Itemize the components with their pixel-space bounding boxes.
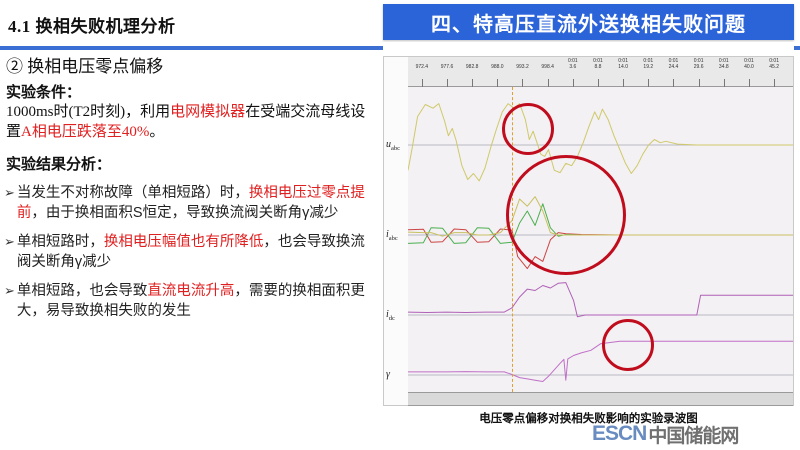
condition-highlight-1: 电网模拟器 [170, 104, 245, 120]
axis-tick-mark [497, 79, 498, 87]
section-banner: 四、特高压直流外送换相失败问题 [383, 4, 794, 40]
axis-tick-mark [573, 79, 574, 87]
bullet-seg-1: 单相短路，也会导致 [17, 283, 148, 299]
bullet-highlight: 换相电压幅值也有所降低 [104, 234, 264, 250]
time-axis-strip: 972.4 977.6 982.8 988.0 993.2 998.40:013… [408, 57, 793, 87]
condition-seg-1: 1000ms时(T2时刻)，利用 [6, 104, 170, 120]
signal-label-column: uabciabcidcγ [384, 87, 408, 392]
slide-header: 4.1 换相失败机理分析 四、特高压直流外送换相失败问题 [0, 0, 800, 48]
signal-label-sub: dc [389, 315, 395, 322]
waveform-trace-i-dc [408, 283, 793, 317]
list-item: ➢ 当发生不对称故障（单相短路）时，换相电压过零点提前，由于换相面积S恒定，导致… [4, 183, 376, 223]
list-item: ➢ 单相短路，也会导致直流电流升高，需要的换相面积更大，易导致换相失败的发生 [4, 281, 376, 321]
bullet-seg-2: ，由于换相面积S恒定，导致换流阀关断角γ减少 [31, 205, 338, 221]
condition-seg-4: 。 [149, 124, 164, 140]
axis-tick-bottom: 45.2 [754, 65, 794, 71]
condition-highlight-2: A相电压跌落至40% [21, 124, 149, 140]
bullet-marker-icon: ➢ [4, 281, 15, 301]
signal-label-main: γ [386, 369, 390, 380]
watermark-brand: ESCN [592, 422, 646, 446]
scroll-bar[interactable] [408, 392, 793, 406]
bullet-body: 单相短路时，换相电压幅值也有所降低，也会导致换流阀关断角γ减少 [17, 232, 376, 272]
bullet-body: 单相短路，也会导致直流电流升高，需要的换相面积更大，易导致换相失败的发生 [17, 281, 376, 321]
signal-label-sub: abc [391, 145, 400, 152]
bullet-body: 当发生不对称故障（单相短路）时，换相电压过零点提前，由于换相面积S恒定，导致换流… [17, 183, 376, 223]
axis-tick-mark [447, 79, 448, 87]
axis-tick-mark [724, 79, 725, 87]
annotation-circle-gamma-reduction [602, 319, 654, 371]
axis-tick-mark [699, 79, 700, 87]
signal-label: uabc [386, 139, 400, 152]
axis-tick-mark [623, 79, 624, 87]
axis-tick-mark [472, 79, 473, 87]
bullet-highlight: 直流电流升高 [147, 283, 234, 299]
section-banner-label: 四、特高压直流外送换相失败问题 [431, 8, 746, 37]
axis-tick-mark [522, 79, 523, 87]
header-divider-mask [383, 42, 794, 50]
signal-label-sub: abc [389, 235, 398, 242]
axis-tick-mark [749, 79, 750, 87]
axis-tick-mark [774, 79, 775, 87]
content-pane-left: ② 换相电压零点偏移 实验条件： 1000ms时(T2时刻)，利用电网模拟器在受… [0, 52, 380, 450]
watermark-brand-cn: 中国储能网 [648, 421, 738, 448]
signal-label: γ [386, 369, 390, 382]
axis-tick-label: 0:0145.2 [754, 59, 794, 71]
subsection-heading: ② 换相电压零点偏移 [6, 52, 380, 77]
experiment-condition-text: 1000ms时(T2时刻)，利用电网模拟器在受端交流母线设置A相电压跌落至40%… [6, 103, 378, 143]
bullet-seg-1: 单相短路时， [17, 234, 104, 250]
condition-seg-2: 在 [245, 104, 260, 120]
signal-label: idc [386, 309, 395, 322]
watermark: ESCN 中国储能网 [592, 420, 792, 448]
axis-tick-mark [422, 79, 423, 87]
experiment-condition-label: 实验条件： [6, 81, 380, 102]
axis-tick-mark [673, 79, 674, 87]
axis-tick-mark [548, 79, 549, 87]
bullet-marker-icon: ➢ [4, 183, 15, 203]
experiment-result-label: 实验结果分析： [6, 153, 380, 174]
axis-tick-mark [598, 79, 599, 87]
annotation-circle-current-distortion [506, 155, 626, 275]
signal-label: iabc [386, 229, 398, 242]
list-item: ➢ 单相短路时，换相电压幅值也有所降低，也会导致换流阀关断角γ减少 [4, 232, 376, 272]
bullet-marker-icon: ➢ [4, 232, 15, 252]
annotation-circle-voltage-zero-crossing [502, 103, 554, 155]
bullet-seg-1: 当发生不对称故障（单相短路）时， [17, 185, 249, 201]
axis-tick-mark [648, 79, 649, 87]
waveform-chart: 972.4 977.6 982.8 988.0 993.2 998.40:013… [383, 56, 794, 406]
page-title: 4.1 换相失败机理分析 [8, 12, 176, 37]
